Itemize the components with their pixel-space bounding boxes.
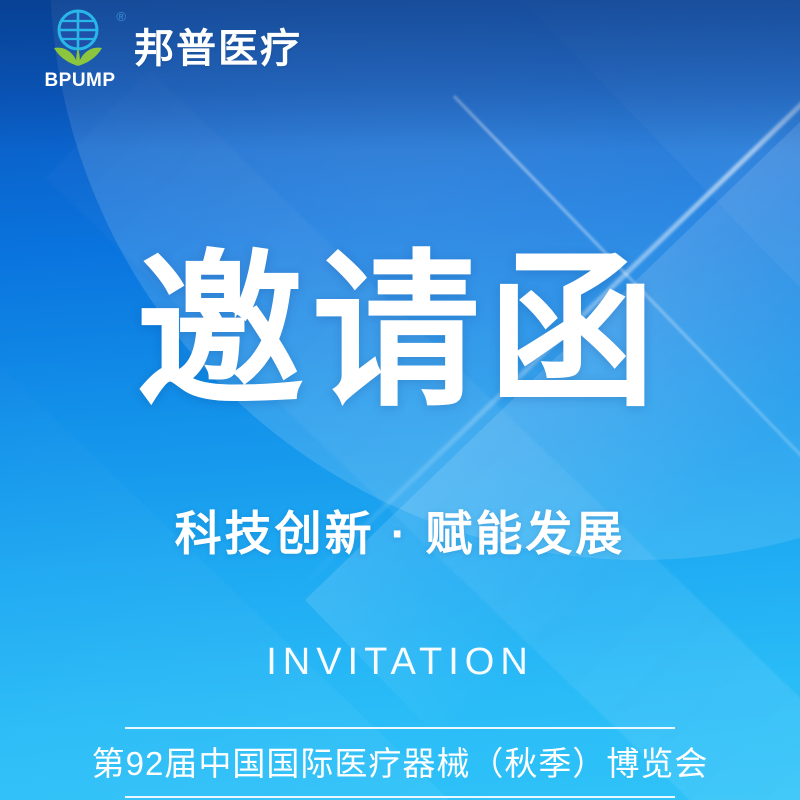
leaf-stem-icon [76, 48, 80, 65]
footer-band: 第92届中国国际医疗器械（秋季）博览会 [0, 727, 800, 800]
diagonal-ribbon-b [46, 70, 800, 800]
leaf-left-icon [54, 48, 78, 66]
page-title: 邀请函 [0, 248, 800, 416]
subtitle-slogan: 科技创新 · 赋能发展 [0, 506, 800, 562]
bpump-logo-icon: BPUMP ® [42, 8, 120, 90]
invitation-english-label: INVITATION [0, 643, 800, 681]
title-block: 邀请函 [0, 248, 800, 416]
company-name: 邦普医疗 [134, 29, 302, 69]
logo-wordmark: BPUMP [44, 70, 115, 90]
bpump-logo-svg: BPUMP [42, 8, 120, 90]
invitation-poster: BPUMP ® 邦普医疗 邀请函 科技创新 · 赋能发展 INVITATION … [0, 0, 800, 800]
brand-lockup: BPUMP ® 邦普医疗 [42, 8, 302, 90]
leaf-right-icon [78, 48, 102, 66]
footer-bottom-rule [125, 796, 675, 798]
registered-trademark-icon: ® [116, 10, 126, 23]
event-name: 第92届中国国际医疗器械（秋季）博览会 [0, 729, 800, 796]
